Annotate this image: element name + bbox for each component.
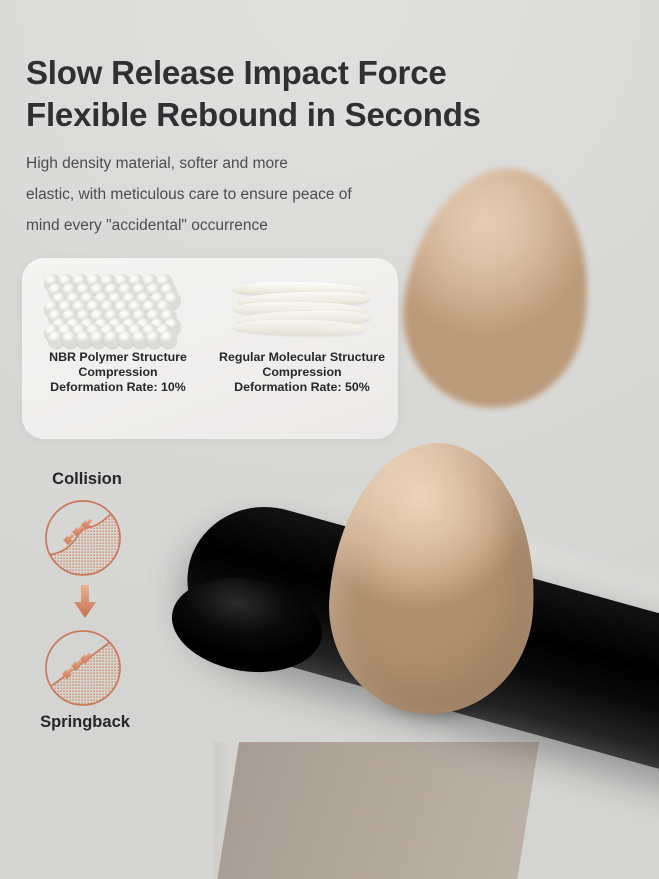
stacked-sheets-icon <box>227 272 377 350</box>
structure-comparison-card: NBR Polymer Structure Compression Deform… <box>22 258 398 439</box>
collision-label: Collision <box>22 470 152 489</box>
comparison-caption-nbr: NBR Polymer Structure Compression Deform… <box>49 350 187 395</box>
collision-circle-svg <box>42 497 124 579</box>
lattice-row <box>48 331 174 348</box>
headline-line-2: Flexible Rebound in Seconds <box>26 94 626 136</box>
springback-label: Springback <box>20 713 150 732</box>
caption-rate-regular: Deformation Rate: 50% <box>219 380 385 395</box>
sphere-lattice-icon <box>44 272 192 350</box>
arrow-down-icon <box>72 585 98 619</box>
caption-title-nbr: NBR Polymer Structure <box>49 350 187 365</box>
subcopy: High density material, softer and more e… <box>26 148 446 241</box>
comparison-caption-regular: Regular Molecular Structure Compression … <box>219 350 385 395</box>
headline-line-1: Slow Release Impact Force <box>26 54 447 91</box>
page-title: Slow Release Impact Force Flexible Rebou… <box>26 52 626 135</box>
subcopy-line-1: High density material, softer and more <box>26 148 446 179</box>
caption-sub-regular: Compression <box>219 365 385 380</box>
springback-circle-svg <box>42 627 124 709</box>
subcopy-line-3: mind every "accidental" occurrence <box>26 210 446 241</box>
collision-diagram-icon <box>42 497 124 579</box>
caption-title-regular: Regular Molecular Structure <box>219 350 385 365</box>
lattice-sphere <box>160 331 177 348</box>
caption-rate-nbr: Deformation Rate: 10% <box>49 380 187 395</box>
flow-arrow <box>20 585 150 619</box>
springback-diagram-icon <box>42 627 124 709</box>
product-feature-banner: Slow Release Impact Force Flexible Rebou… <box>0 0 659 879</box>
caption-sub-nbr: Compression <box>49 365 187 380</box>
impact-flow-diagram: Collision <box>20 470 170 732</box>
comparison-column-regular: Regular Molecular Structure Compression … <box>210 272 394 429</box>
comparison-column-nbr: NBR Polymer Structure Compression Deform… <box>26 272 210 429</box>
subcopy-line-2: elastic, with meticulous care to ensure … <box>26 179 446 210</box>
